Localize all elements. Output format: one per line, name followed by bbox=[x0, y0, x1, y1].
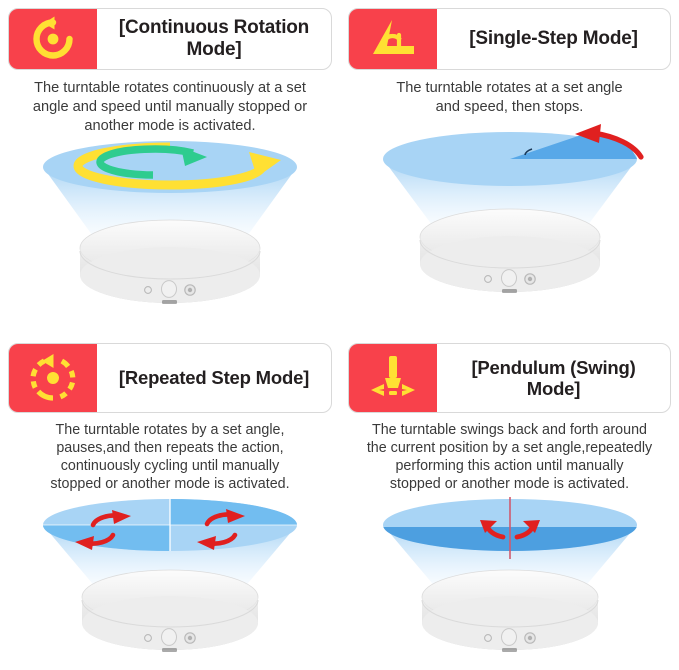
pendulum-swing-icon bbox=[349, 344, 437, 412]
mode-title: [Repeated Step Mode] bbox=[97, 344, 331, 412]
mode-badge-pendulum-swing: [Pendulum (Swing) Mode] bbox=[348, 343, 671, 413]
turntable-single-step-illustration bbox=[348, 117, 671, 335]
mode-badge-continuous: [Continuous Rotation Mode] bbox=[8, 8, 332, 70]
mode-description: The turntable rotates continuously at a … bbox=[8, 79, 332, 135]
turntable-pendulum-swing-illustration bbox=[348, 493, 671, 670]
turntable-illustration-svg bbox=[375, 497, 645, 667]
mode-description: The turntable rotates at a set angle and… bbox=[348, 79, 671, 117]
turntable-illustration-svg bbox=[35, 139, 305, 324]
mode-badge-single-step: [Single-Step Mode] bbox=[348, 8, 671, 70]
mode-description: The turntable swings back and forth arou… bbox=[348, 422, 671, 493]
panel-single-step-mode: [Single-Step Mode] The turntable rotates… bbox=[340, 0, 679, 335]
turntable-illustration-svg bbox=[35, 497, 305, 667]
mode-badge-repeated-step: [Repeated Step Mode] bbox=[8, 343, 332, 413]
panel-pendulum-swing-mode: [Pendulum (Swing) Mode] The turntable sw… bbox=[340, 335, 679, 670]
mode-panels-grid: [Continuous Rotation Mode] The turntable… bbox=[0, 0, 679, 670]
mode-description: The turntable rotates by a set angle, pa… bbox=[8, 422, 332, 493]
mode-title: [Continuous Rotation Mode] bbox=[97, 9, 331, 69]
mode-title: [Single-Step Mode] bbox=[437, 9, 670, 69]
turntable-illustration-svg bbox=[375, 121, 645, 306]
mode-title: [Pendulum (Swing) Mode] bbox=[437, 344, 670, 412]
angle-protractor-icon bbox=[349, 9, 437, 69]
turntable-continuous-rotation-illustration bbox=[8, 135, 332, 335]
panel-continuous-rotation-mode: [Continuous Rotation Mode] The turntable… bbox=[0, 0, 340, 335]
circular-arrow-icon bbox=[9, 9, 97, 69]
dashed-circular-arrow-icon bbox=[9, 344, 97, 412]
turntable-repeated-step-illustration bbox=[8, 493, 332, 670]
panel-repeated-step-mode: [Repeated Step Mode] The turntable rotat… bbox=[0, 335, 340, 670]
